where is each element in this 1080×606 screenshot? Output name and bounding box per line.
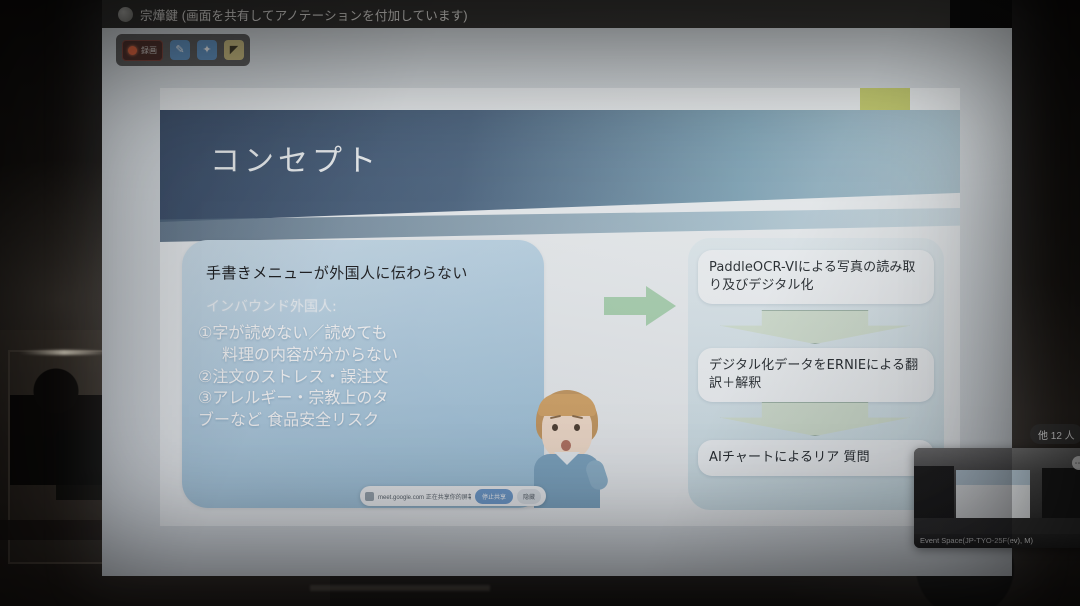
room-rail (310, 585, 490, 591)
down-chevron-arrow-icon (720, 402, 910, 436)
down-chevron-arrow-icon (720, 310, 910, 344)
presenter-status-text: 宗燁鍵 (画面を共有してアノテーションを付加しています) (140, 5, 468, 24)
eraser-button[interactable]: ◤ (224, 40, 244, 60)
solution-step: AIチャートによるリア 質問 (698, 440, 934, 476)
solution-step-text: AIチャートによるリア 質問 (709, 449, 923, 467)
self-view-video-tile[interactable]: Event Space(JP-TYO-25F(ev), M) ⋯ (914, 448, 1080, 548)
stop-sharing-button[interactable]: 停止共享 (475, 489, 513, 504)
record-button[interactable]: 録画 (122, 40, 163, 61)
laser-pointer-button[interactable]: ✦ (197, 40, 217, 60)
solution-step: PaddleOCR-VIによる写真の読み取り及びデジタル化 (698, 250, 934, 304)
solution-step: デジタル化データをERNIEによる翻訳＋解釈 (698, 348, 934, 402)
ceiling-lamp (18, 350, 110, 355)
list-item: ③アレルギー・宗教上のタ (198, 387, 534, 409)
problem-list: ①字が読めない／読めても 料理の内容が分からない ②注文のストレス・誤注文 ③ア… (198, 322, 534, 431)
hide-notification-button[interactable]: 隐藏 (517, 489, 541, 504)
pen-icon: ✎ (175, 45, 184, 56)
eraser-icon: ◤ (230, 45, 238, 56)
list-item: 料理の内容が分からない (198, 344, 534, 366)
video-foreground-bar (914, 518, 1080, 534)
laser-pointer-icon: ✦ (202, 45, 211, 56)
user-avatar-icon (118, 7, 133, 22)
globe-icon (365, 492, 374, 501)
screen-share-notification[interactable]: meet.google.com 正在共享你的屏幕 停止共享 隐藏 (360, 486, 546, 506)
list-item: ②注文のストレス・誤注文 (198, 366, 534, 388)
solution-step-text: デジタル化データをERNIEによる翻訳＋解釈 (709, 357, 923, 393)
projected-screen: 宗燁鍵 (画面を共有してアノテーションを付加しています) 18:26 録画 ✎ … (102, 0, 1012, 576)
list-item: ①字が読めない／読めても (198, 322, 534, 344)
annotation-toolbar[interactable]: 録画 ✎ ✦ ◤ (116, 34, 250, 66)
annotate-pen-button[interactable]: ✎ (170, 40, 190, 60)
list-item: ブーなど 食品安全リスク (198, 409, 534, 431)
presentation-slide: コンセプト 手書きメニューが外国人に伝わらない インバウンド外国人: ①字が読め… (160, 88, 960, 526)
meet-top-bar: 宗燁鍵 (画面を共有してアノテーションを付加しています) 18:26 (102, 0, 1012, 28)
room-scene: 宗燁鍵 (画面を共有してアノテーションを付加しています) 18:26 録画 ✎ … (0, 0, 1080, 606)
record-dot-icon (128, 46, 137, 55)
problem-subheading: インバウンド外国人: (206, 298, 526, 317)
self-view-label: Event Space(JP-TYO-25F(ev), M) (920, 536, 1033, 545)
more-options-icon[interactable]: ⋯ (1072, 456, 1080, 470)
solution-panel: PaddleOCR-VIによる写真の読み取り及びデジタル化 デジタル化データをE… (688, 238, 944, 510)
share-notification-text: meet.google.com 正在共享你的屏幕 (378, 492, 471, 501)
other-participants-badge[interactable]: 他 12 人 (1030, 424, 1080, 444)
problem-heading: 手書きメニューが外国人に伝わらない (206, 262, 526, 283)
record-button-label: 録画 (141, 45, 157, 56)
solution-step-text: PaddleOCR-VIによる写真の読み取り及びデジタル化 (709, 259, 923, 295)
right-arrow-icon (604, 286, 676, 326)
screen-edge-shadow (950, 0, 1012, 28)
problem-panel: 手書きメニューが外国人に伝わらない インバウンド外国人: ①字が読めない／読めて… (182, 240, 544, 508)
slide-title: コンセプト (210, 136, 380, 180)
